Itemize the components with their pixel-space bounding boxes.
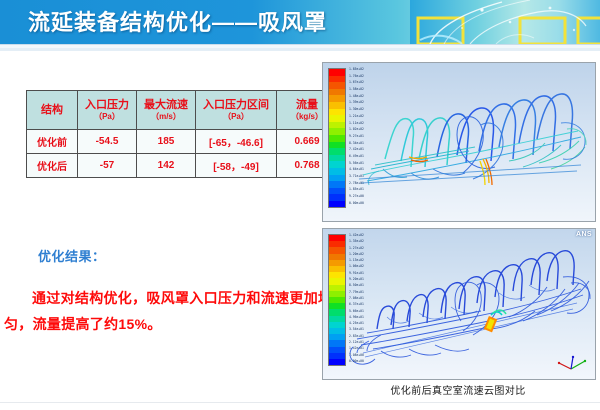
cell-pressure-range: [-65，-46.6] bbox=[196, 130, 277, 154]
legend-color-bar bbox=[328, 68, 346, 208]
header-unit: （Pa） bbox=[200, 112, 272, 121]
table-row: 优化前 -54.5 185 [-65，-46.6] 0.669 bbox=[27, 130, 338, 154]
cell-max-velocity: 142 bbox=[137, 154, 196, 178]
table-header-cell-max-velocity: 最大流速 （m/s） bbox=[137, 91, 196, 130]
table-header-cell-structure: 结构 bbox=[27, 91, 78, 130]
legend-tick-labels: 1.42e+02 1.35e+02 1.27e+02 1.20e+02 1.13… bbox=[349, 234, 364, 366]
figure-caption: 优化前后真空室流速云图对比 bbox=[322, 382, 594, 397]
legend-tick-labels: 1.85e+02 1.76e+02 1.67e+02 1.58e+02 1.48… bbox=[349, 68, 364, 208]
cell-inlet-pressure: -57 bbox=[78, 154, 137, 178]
cell-structure: 优化前 bbox=[27, 130, 78, 154]
table-row: 优化后 -57 142 [-58，-49] 0.768 bbox=[27, 154, 338, 178]
table-header-cell-inlet-pressure: 入口压力 （Pa） bbox=[78, 91, 137, 130]
legend-color-bar bbox=[328, 234, 346, 366]
header-label: 入口压力区间 bbox=[203, 99, 269, 111]
ansys-watermark: ANS bbox=[576, 231, 592, 238]
header-unit: （m/s） bbox=[141, 112, 191, 121]
cell-structure: 优化后 bbox=[27, 154, 78, 178]
header-label: 结构 bbox=[41, 104, 63, 116]
comparison-table-wrapper: 结构 入口压力 （Pa） 最大流速 （m/s） 入口压力区间 （Pa） bbox=[26, 90, 338, 178]
slide-header: 流延装备结构优化——吸风罩 bbox=[0, 0, 600, 44]
cell-max-velocity: 185 bbox=[137, 130, 196, 154]
header-label: 流量 bbox=[296, 99, 318, 111]
comparison-table: 结构 入口压力 （Pa） 最大流速 （m/s） 入口压力区间 （Pa） bbox=[26, 90, 338, 178]
table-header-row: 结构 入口压力 （Pa） 最大流速 （m/s） 入口压力区间 （Pa） bbox=[27, 91, 338, 130]
result-label: 优化结果： bbox=[38, 246, 106, 265]
cell-inlet-pressure: -54.5 bbox=[78, 130, 137, 154]
velocity-color-legend-top: 1.85e+02 1.76e+02 1.67e+02 1.58e+02 1.48… bbox=[328, 68, 364, 208]
result-body-text: 通过对结构优化，吸风罩入口压力和流速更加均匀，流量提高了约15%。 bbox=[4, 285, 334, 337]
header-label: 入口压力 bbox=[85, 99, 129, 111]
header-unit: （Pa） bbox=[82, 112, 132, 121]
footer-divider bbox=[0, 402, 600, 403]
cell-pressure-range: [-58，-49] bbox=[196, 154, 277, 178]
legend-tick: 0.00e+00 bbox=[349, 360, 364, 366]
page-title: 流延装备结构优化——吸风罩 bbox=[28, 5, 327, 37]
header-divider-secondary bbox=[0, 48, 600, 51]
legend-tick: 0.00e+00 bbox=[349, 202, 364, 209]
header-label: 最大流速 bbox=[144, 99, 188, 111]
header-decoration bbox=[410, 0, 600, 44]
velocity-color-legend-bottom: 1.42e+02 1.35e+02 1.27e+02 1.20e+02 1.13… bbox=[328, 234, 364, 366]
cfd-figure-after-optimization: ANS 1.42e+02 1.35e+02 1.27e+02 1.20e+02 bbox=[322, 228, 596, 380]
cfd-figure-before-optimization: 1.85e+02 1.76e+02 1.67e+02 1.58e+02 1.48… bbox=[322, 62, 596, 222]
table-header-cell-pressure-range: 入口压力区间 （Pa） bbox=[196, 91, 277, 130]
slide-root: 流延装备结构优化——吸风罩 结构 入口压力 （Pa） 最大流速 （m/ bbox=[0, 0, 600, 410]
